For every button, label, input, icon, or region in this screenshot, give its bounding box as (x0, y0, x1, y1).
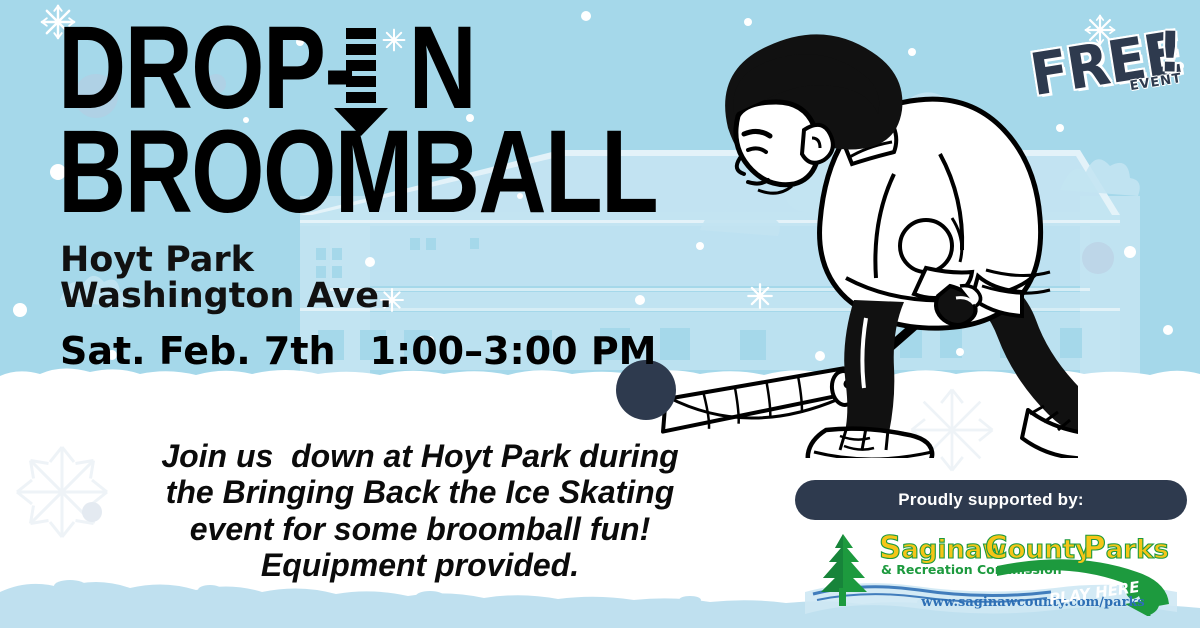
saginaw-county-parks-logo[interactable]: Saginaw County Parks & Recreation Commis… (795, 528, 1187, 616)
event-datetime: Sat. Feb. 7th1:00–3:00 PM (60, 329, 657, 373)
venue-name: Hoyt Park (60, 243, 392, 279)
logo-subtitle: & Recreation Commission (881, 562, 1062, 577)
venue-block: Hoyt Park Washington Ave. (60, 243, 392, 314)
player-near-leg (842, 300, 904, 446)
venue-street: Washington Ave. (60, 279, 392, 315)
poster-canvas: DROP-N BROOMBALL Hoyt Park Washington Av… (0, 0, 1200, 628)
event-date: Sat. Feb. 7th (60, 329, 336, 373)
sponsor-banner-text: Proudly supported by: (898, 490, 1084, 510)
headline-block: DROP-N BROOMBALL (58, 14, 807, 227)
logo-name-parks: Parks (1083, 530, 1169, 566)
description-line-4: Equipment provided. (120, 547, 720, 583)
description-line-3: event for some broomball fun! (120, 511, 720, 547)
event-description: Join us down at Hoyt Park during the Bri… (120, 438, 720, 584)
logo-name-county: County (985, 530, 1092, 566)
down-arrow-icon (332, 28, 390, 136)
event-time: 1:00–3:00 PM (370, 329, 657, 373)
sponsor-banner: Proudly supported by: (795, 480, 1187, 520)
description-line-1: Join us down at Hoyt Park during (120, 438, 720, 474)
player-near-shoe (808, 428, 932, 458)
sponsor-section: Proudly supported by: (795, 480, 1187, 616)
description-line-2: the Bringing Back the Ice Skating (120, 474, 720, 510)
